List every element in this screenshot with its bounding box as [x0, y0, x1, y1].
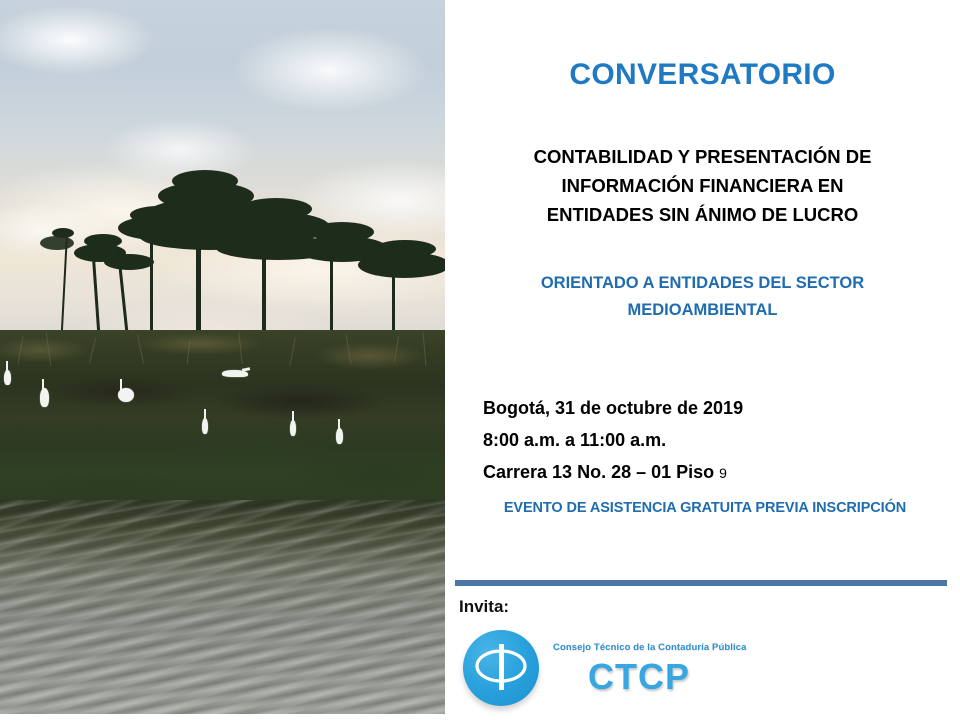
subtitle-line-3: ENTIDADES SIN ÁNIMO DE LUCRO — [475, 200, 930, 229]
event-poster: CONVERSATORIO CONTABILIDAD Y PRESENTACIÓ… — [0, 0, 960, 720]
section-divider — [455, 580, 947, 586]
water-ripples-secondary — [0, 500, 445, 714]
river-landscape-photo — [0, 0, 445, 714]
subtitle-line-1: CONTABILIDAD Y PRESENTACIÓN DE — [475, 142, 930, 171]
event-address-row: Carrera 13 No. 28 – 01 Piso 9 — [483, 456, 943, 489]
poster-audience-note: ORIENTADO A ENTIDADES DEL SECTOR MEDIOAM… — [485, 270, 920, 324]
bank-texture — [0, 330, 445, 515]
ctcp-phi-emblem-icon — [463, 630, 539, 706]
river-bank — [0, 330, 445, 515]
poster-subtitle: CONTABILIDAD Y PRESENTACIÓN DE INFORMACI… — [475, 142, 930, 229]
egret-bird — [336, 428, 343, 444]
egret-bird — [290, 420, 296, 436]
ctcp-logo: Consejo Técnico de la Contaduría Pública… — [463, 628, 933, 716]
egret-bird — [202, 418, 208, 434]
river-water — [0, 500, 445, 714]
free-event-note: EVENTO DE ASISTENCIA GRATUITA PREVIA INS… — [475, 500, 935, 516]
event-location-date: Bogotá, 31 de octubre de 2019 — [483, 392, 943, 424]
poster-content-panel: CONVERSATORIO CONTABILIDAD Y PRESENTACIÓ… — [445, 0, 960, 720]
audience-line-2: MEDIOAMBIENTAL — [485, 297, 920, 324]
event-details: Bogotá, 31 de octubre de 2019 8:00 a.m. … — [483, 392, 943, 489]
event-address: Carrera 13 No. 28 – 01 Piso — [483, 462, 714, 482]
egret-bird — [40, 388, 49, 407]
poster-title: CONVERSATORIO — [445, 58, 960, 92]
ctcp-tagline: Consejo Técnico de la Contaduría Pública — [553, 642, 747, 653]
subtitle-line-2: INFORMACIÓN FINANCIERA EN — [475, 171, 930, 200]
ctcp-acronym: CTCP — [588, 656, 690, 698]
event-floor-number: 9 — [719, 465, 727, 481]
egret-bird-flying — [222, 370, 248, 377]
event-time: 8:00 a.m. a 11:00 a.m. — [483, 424, 943, 456]
egret-bird — [118, 388, 134, 402]
audience-line-1: ORIENTADO A ENTIDADES DEL SECTOR — [485, 270, 920, 297]
invited-by-label: Invita: — [459, 597, 509, 617]
egret-bird — [4, 370, 11, 385]
